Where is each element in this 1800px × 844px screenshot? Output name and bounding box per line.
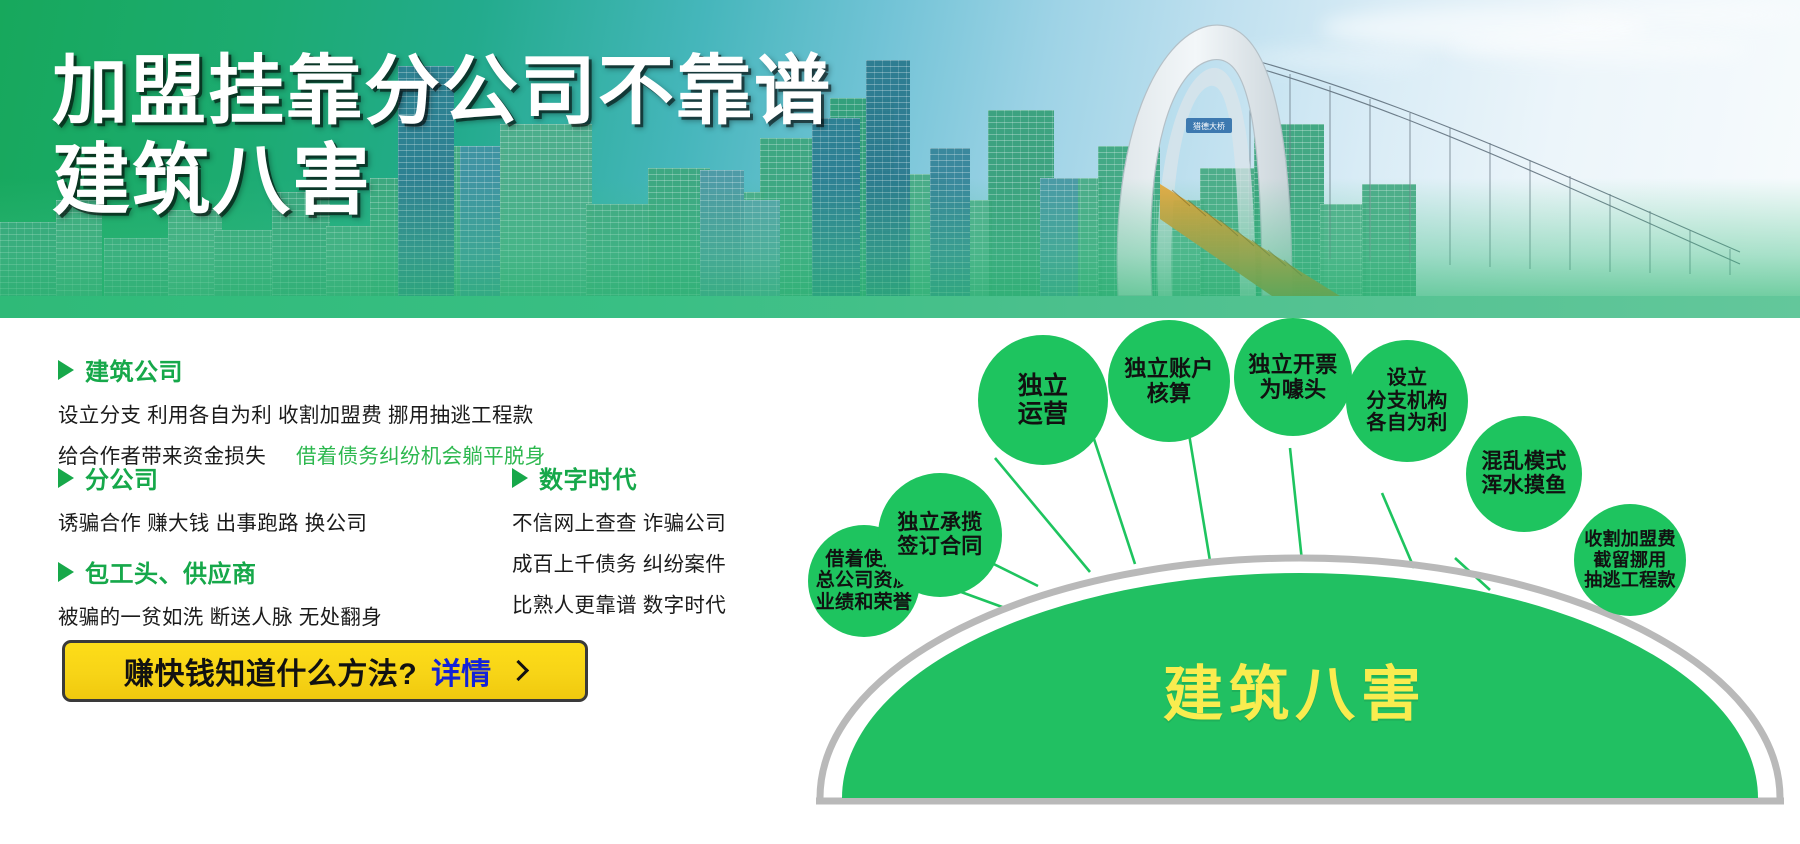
bubble-line: 各自为利 [1366,412,1447,435]
chevron-right-icon [508,659,529,680]
hero-banner: 猎德大桥 加盟挂靠分公司不靠谱 建筑八害 [0,0,1800,318]
section-line: 诱骗合作 赚大钱 出事跑路 换公司 [58,506,367,536]
section-header: 包工头、供应商 [58,554,382,589]
cta-button[interactable]: 赚快钱知道什么方法? 详情 [62,640,588,702]
bubble-item[interactable]: 独立运营 [978,335,1108,465]
triangle-bullet-icon [512,468,528,488]
cta-main-label: 赚快钱知道什么方法? [124,649,417,693]
bubble-line: 业绩和荣誉 [816,592,913,614]
bubble-item[interactable]: 独立账户核算 [1108,320,1230,442]
bubble-text: 独立账户核算 [1120,356,1217,406]
left-content-pane: 建筑公司 设立分支 利用各自为利 收割加盟费 挪用抽逃工程款 给合作者带来资金损… [0,318,800,844]
bubble-line: 浑水摸鱼 [1481,474,1566,498]
section-construction-company: 建筑公司 设立分支 利用各自为利 收割加盟费 挪用抽逃工程款 给合作者带来资金损… [58,352,546,469]
section-digital-era: 数字时代 不信网上查查 诈骗公司 成百上千债务 纠纷案件 比熟人更靠谱 数字时代 [512,460,726,618]
section-line: 比熟人更靠谱 数字时代 [512,588,726,618]
bubble-item[interactable]: 独立承揽签订合同 [878,473,1002,597]
section-title: 数字时代 [539,460,637,495]
bubble-line: 签订合同 [897,535,982,559]
section-title: 建筑公司 [85,352,183,387]
bubble-text: 独立开票为噱头 [1244,352,1341,402]
section-header: 数字时代 [512,460,726,495]
triangle-bullet-icon [58,360,74,380]
bubble-line: 抽逃工程款 [1584,570,1676,591]
bubble-line: 分支机构 [1366,390,1447,413]
arch-title: 建筑八害 [790,646,1800,733]
bubble-line: 独立承揽 [897,511,982,535]
bubble-item[interactable]: 独立开票为噱头 [1234,318,1352,436]
bubble-item[interactable]: 设立分支机构各自为利 [1346,340,1468,462]
bridge-sign-label: 猎德大桥 [1193,121,1225,131]
bubble-text: 设立分支机构各自为利 [1362,367,1451,435]
bubble-item[interactable]: 混乱模式浑水摸鱼 [1466,416,1582,532]
cta-link-label[interactable]: 详情 [431,649,491,693]
hero-title-line-1: 加盟挂靠分公司不靠谱 [52,52,832,133]
section-title: 分公司 [85,460,159,495]
bubble-line: 设立 [1366,367,1447,390]
section-line: 设立分支 利用各自为利 收割加盟费 挪用抽逃工程款 [58,398,546,428]
bubble-line: 混乱模式 [1481,450,1566,474]
bubble-line: 运营 [1018,400,1069,429]
bubble-text: 独立承揽签订合同 [893,511,986,559]
hero-title-line-2: 建筑八害 [52,139,832,222]
bubble-line: 独立账户 [1124,356,1213,381]
section-line: 不信网上查查 诈骗公司 [512,506,726,536]
section-contractor-supplier: 包工头、供应商 被骗的一贫如洗 断送人脉 无处翻身 [58,554,382,630]
bubble-line: 独立 [1018,372,1069,401]
bubble-line: 收割加盟费 [1584,529,1676,550]
bubble-line: 核算 [1124,381,1213,406]
section-branch-company: 分公司 诱骗合作 赚大钱 出事跑路 换公司 [58,460,367,536]
diagram-pane: 建筑八害 借着使用总公司资质业绩和荣誉 独立承揽签订合同 独立运营 独立账户核算… [790,318,1800,844]
section-title: 包工头、供应商 [85,554,257,589]
bubble-line: 截留挪用 [1584,550,1676,571]
triangle-bullet-icon [58,468,74,488]
bubble-line: 独立开票 [1248,352,1337,377]
section-header: 分公司 [58,460,367,495]
hero-ground-strip [0,296,1800,318]
hero-title-group: 加盟挂靠分公司不靠谱 建筑八害 [52,52,832,221]
bubble-line: 为噱头 [1248,377,1337,402]
triangle-bullet-icon [58,562,74,582]
bubble-text: 混乱模式浑水摸鱼 [1477,450,1570,498]
bubble-text: 收割加盟费截留挪用抽逃工程款 [1580,529,1680,591]
bubble-text: 独立运营 [1014,372,1073,429]
bubble-item[interactable]: 收割加盟费截留挪用抽逃工程款 [1574,504,1686,616]
section-line: 成百上千债务 纠纷案件 [512,547,726,577]
section-header: 建筑公司 [58,352,546,387]
section-line: 被骗的一贫如洗 断送人脉 无处翻身 [58,600,382,630]
